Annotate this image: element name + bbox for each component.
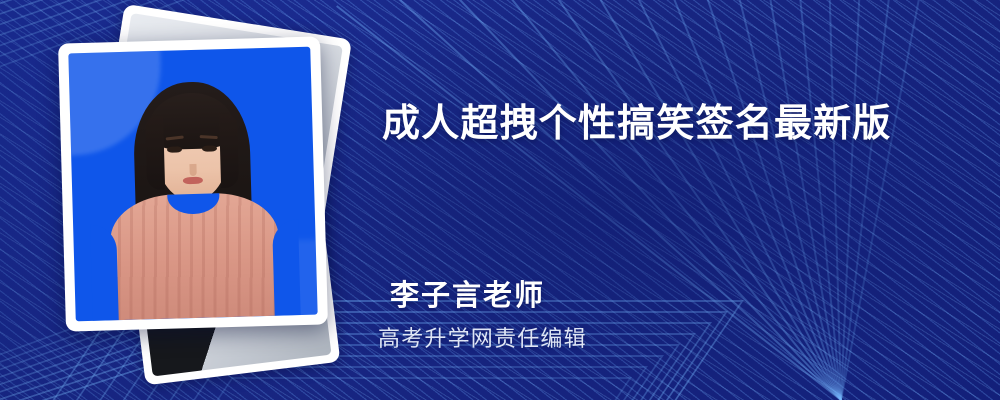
fan-ray [840,0,871,400]
portrait [68,47,317,322]
portrait-eyebrow-right [200,135,218,139]
ray-fan-right [560,0,1000,400]
editor-photo-frame [58,36,328,331]
banner-title: 成人超拽个性搞笑签名最新版 [382,101,892,149]
portrait-nose [189,164,196,176]
photo-card-stack [52,28,352,358]
author-name: 李子言老师 [390,272,545,314]
editor-photo [68,47,317,322]
fan-ray [840,0,964,400]
portrait-backdrop-right [272,219,301,316]
profile-banner: 成人超拽个性搞笑签名最新版 李子言老师 高考升学网责任编辑 [0,0,1000,400]
author-role: 高考升学网责任编辑 [378,321,587,353]
